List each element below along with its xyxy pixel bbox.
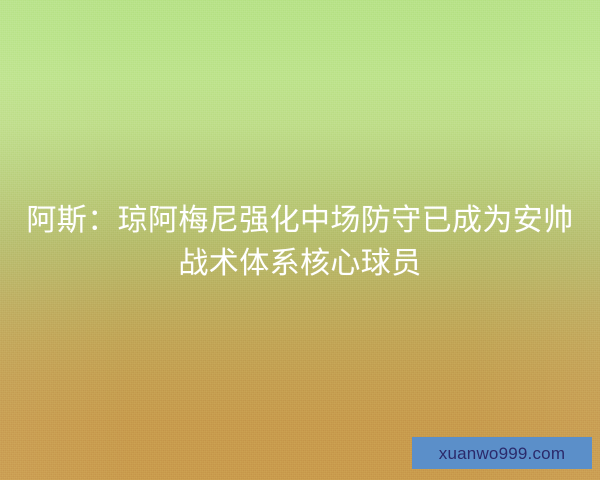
headline-line-1: 阿斯：琼阿梅尼强化中场防守已成为安帅 xyxy=(0,199,600,242)
headline-line-2: 战术体系核心球员 xyxy=(0,242,600,285)
watermark-badge: xuanwo999.com xyxy=(412,437,592,469)
headline-text: 阿斯：琼阿梅尼强化中场防守已成为安帅 战术体系核心球员 xyxy=(0,199,600,285)
banner-image: 阿斯：琼阿梅尼强化中场防守已成为安帅 战术体系核心球员 xuanwo999.co… xyxy=(0,0,600,480)
watermark-label: xuanwo999.com xyxy=(439,445,565,462)
